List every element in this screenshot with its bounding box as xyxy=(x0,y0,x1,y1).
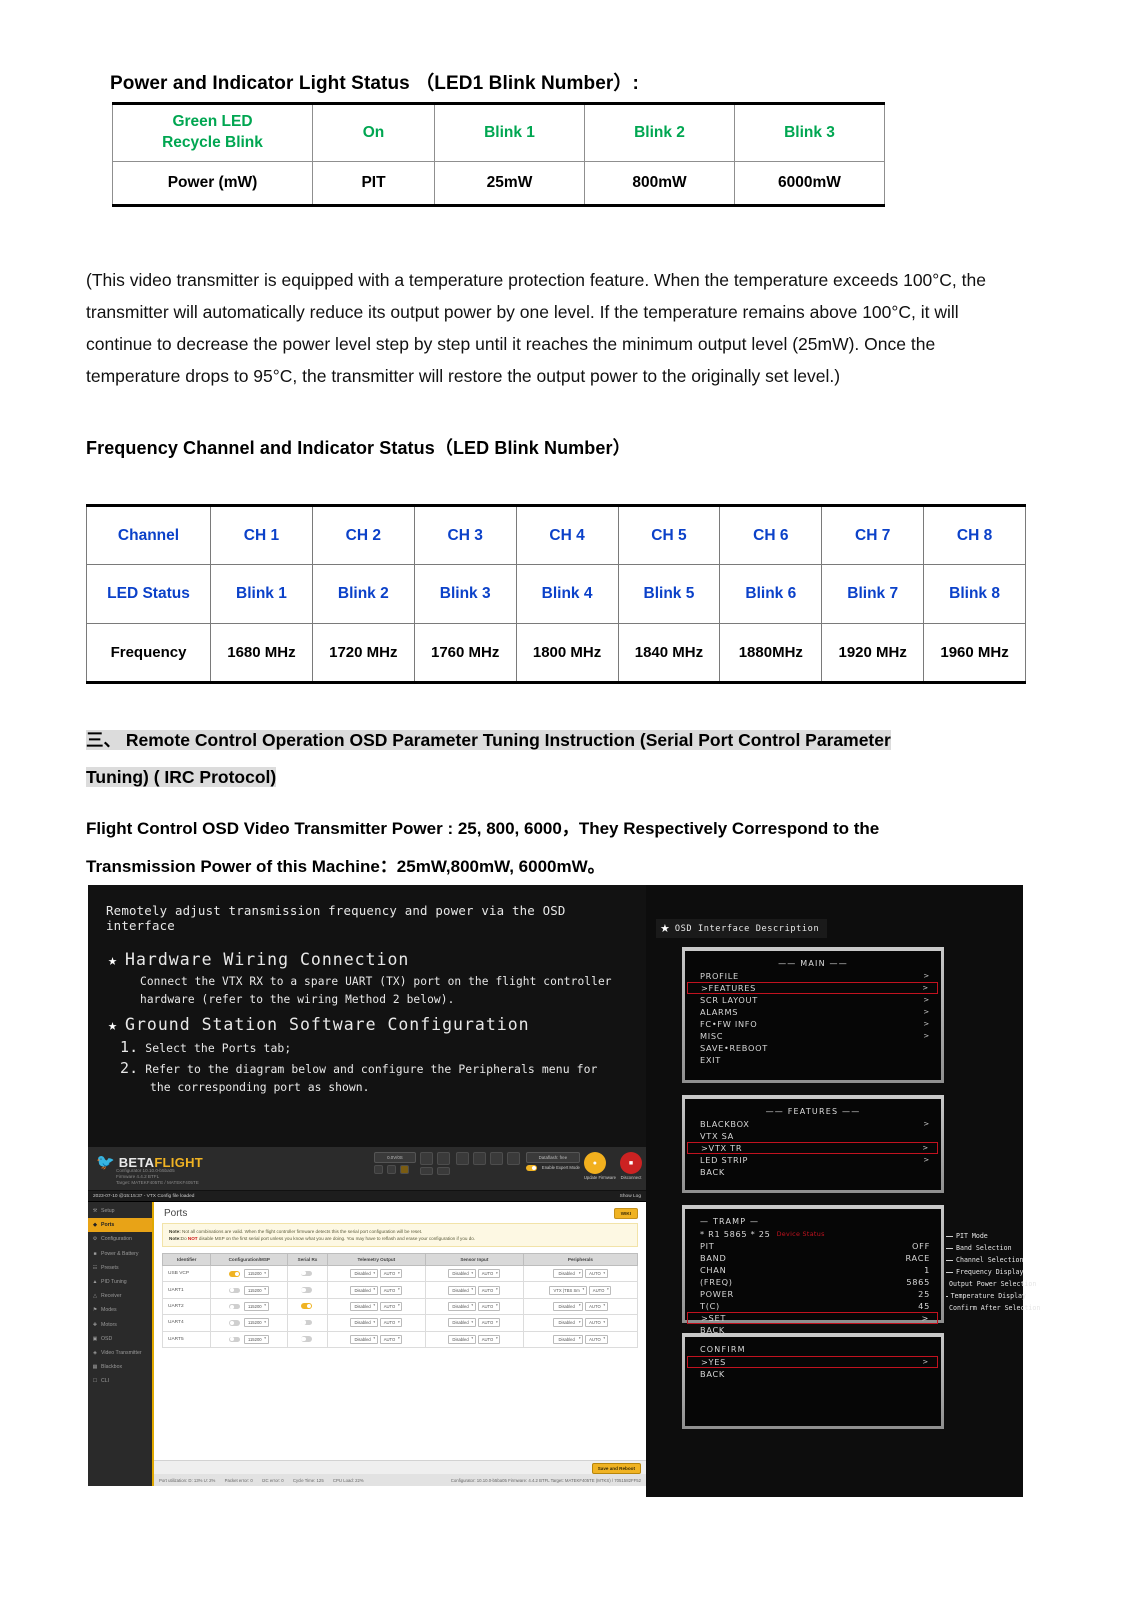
sensor-baud-select[interactable]: AUTO xyxy=(478,1302,501,1311)
star-icon: ★ xyxy=(108,951,118,969)
item-value: 25 xyxy=(918,1288,930,1300)
telemetry-baud-select[interactable]: AUTO xyxy=(380,1286,403,1295)
annotation-label: Frequency Display xyxy=(956,1266,1024,1278)
row-configuration[interactable]: 115200 xyxy=(211,1331,288,1347)
sidebar-label: CLI xyxy=(101,1378,109,1384)
sidebar-item-modes[interactable]: ⚑Modes xyxy=(88,1303,152,1317)
baud-select[interactable]: 115200 xyxy=(244,1269,269,1278)
channel-cell-8: CH 8 xyxy=(924,506,1026,565)
serial-rx-toggle[interactable] xyxy=(301,1320,312,1326)
sidebar-item-setup[interactable]: ⚒Setup xyxy=(88,1204,152,1218)
item-value: RACE xyxy=(905,1252,930,1264)
expert-mode-label: Enable Expert Mode xyxy=(542,1165,580,1170)
section-3-line-1: 三、 Remote Control Operation OSD Paramete… xyxy=(86,730,891,750)
row-serial-rx[interactable] xyxy=(288,1298,328,1314)
chevron-right-icon: > xyxy=(922,1142,929,1154)
betaflight-version-meta: Configurator 10.10.0-b5ba05 Firmware 4.4… xyxy=(116,1168,199,1187)
sidebar-label: PID Tuning xyxy=(101,1279,127,1285)
monitor-icon: ▣ xyxy=(92,1336,98,1342)
item-label: PROFILE xyxy=(700,970,739,982)
annotation-confirm-after-selection: Confirm After Selection xyxy=(946,1302,1026,1314)
port-indicator-group xyxy=(456,1152,522,1165)
sidebar-label: Blackbox xyxy=(101,1364,122,1370)
port-utilization: Port utilization: D: 13% U: 2% xyxy=(159,1478,215,1483)
sidebar-label: Motors xyxy=(101,1322,117,1328)
table-row: UART2 115200 DisabledAUTO DisabledAUTO D… xyxy=(163,1298,638,1314)
table-row: Power (mW) PIT 25mW 800mW 6000mW xyxy=(113,162,885,206)
peripheral-select[interactable]: VTX (TBS Sm xyxy=(549,1286,586,1295)
star-icon: ★ xyxy=(108,1016,118,1034)
ports-table: Identifier Configuration/MSP Serial Rx T… xyxy=(162,1253,638,1348)
osd-power-line-2: Transmission Power of this Machine：25mW,… xyxy=(86,857,605,876)
row-sensor[interactable]: DisabledAUTO xyxy=(425,1282,523,1298)
update-firmware-icon[interactable]: ● xyxy=(584,1152,606,1174)
serial-rx-toggle[interactable] xyxy=(301,1336,312,1342)
row-telemetry[interactable]: DisabledAUTO xyxy=(327,1266,425,1282)
item-label: SCR LAYOUT xyxy=(700,994,758,1006)
state-cell-blink-3: Blink 3 xyxy=(735,104,885,162)
chevron-right-icon: > xyxy=(922,1356,929,1368)
peripheral-baud-select[interactable]: AUTO xyxy=(589,1286,612,1295)
row-configuration[interactable]: 115200 xyxy=(211,1298,288,1314)
hardware-wiring-line-1: Connect the VTX RX to a spare UART (TX) … xyxy=(140,975,612,988)
sidebar-label: Video Transmitter xyxy=(101,1350,142,1356)
gps-sat-icon xyxy=(473,1152,486,1165)
sensor-select[interactable]: Disabled xyxy=(448,1286,475,1295)
item-label: ALARMS xyxy=(700,1006,738,1018)
show-log-link[interactable]: Show Log xyxy=(620,1194,641,1199)
note-2-pre: Do xyxy=(181,1236,188,1241)
power-label-cell: Power (mW) xyxy=(113,162,313,206)
row-configuration[interactable]: 115200 xyxy=(211,1315,288,1331)
sidebar-label: Receiver xyxy=(101,1293,121,1299)
ports-header: Ports WIKI xyxy=(154,1202,646,1223)
green-led-line1: Green LED xyxy=(172,113,252,130)
note-1: Note: Not all combinations are valid. Wh… xyxy=(169,1228,631,1235)
sensor-select[interactable]: Disabled xyxy=(448,1318,475,1327)
peripheral-baud-select[interactable]: AUTO xyxy=(585,1302,608,1311)
save-and-reboot-button[interactable]: Save and Reboot xyxy=(592,1463,641,1474)
led-status-cell-7: Blink 7 xyxy=(822,565,924,624)
step-2-text: Refer to the diagram below and configure… xyxy=(145,1062,597,1076)
osd-tramp-item-freq: (FREQ)5865 xyxy=(694,1276,932,1288)
packet-error: Packet error: 0 xyxy=(225,1478,253,1483)
sonar-icon xyxy=(456,1152,469,1165)
frequency-cell-7: 1920 MHz xyxy=(822,624,924,683)
item-label: CHAN xyxy=(700,1264,726,1276)
row-sensor[interactable]: DisabledAUTO xyxy=(425,1315,523,1331)
row-peripheral[interactable]: DisabledAUTO xyxy=(523,1331,637,1347)
msp-toggle[interactable] xyxy=(229,1337,240,1343)
power-value-6000mw: 6000mW xyxy=(735,162,885,206)
column-serial-rx: Serial Rx xyxy=(288,1254,328,1266)
ports-title: Ports xyxy=(164,1208,187,1219)
row-sensor[interactable]: DisabledAUTO xyxy=(425,1331,523,1347)
sliders-icon: ☷ xyxy=(92,1265,98,1271)
channel-cell-5: CH 5 xyxy=(618,506,720,565)
led-status-cell-5: Blink 5 xyxy=(618,565,720,624)
row-serial-rx[interactable] xyxy=(288,1266,328,1282)
osd-features-item-led-strip[interactable]: LED STRIP> xyxy=(694,1154,932,1166)
osd-main-item-fc-fw-info[interactable]: FC•FW INFO> xyxy=(694,1018,932,1030)
sensor-baud-select[interactable]: AUTO xyxy=(478,1269,501,1278)
item-label: >YES xyxy=(701,1356,726,1368)
sidebar-item-ports[interactable]: ◆Ports xyxy=(88,1218,152,1232)
osd-menu-confirm-screen: CONFIRM >YES> BACK xyxy=(685,1337,941,1426)
telemetry-baud-select[interactable]: AUTO xyxy=(380,1269,403,1278)
annotation-channel-selection: Channel Selection xyxy=(946,1254,1026,1266)
osd-menu-confirm: CONFIRM >YES> BACK xyxy=(682,1333,944,1429)
led-status-cell-1: Blink 1 xyxy=(211,565,313,624)
plug-icon: ◆ xyxy=(92,1222,98,1228)
temperature-protection-note: (This video transmitter is equipped with… xyxy=(86,264,1026,392)
item-label: EXIT xyxy=(700,1054,721,1066)
peripheral-select[interactable]: Disabled xyxy=(553,1269,583,1278)
osd-tramp-item-pit[interactable]: PITOFF xyxy=(694,1240,932,1252)
expert-mode-row[interactable]: Enable Expert Mode xyxy=(526,1165,580,1171)
cpu-load: CPU Load: 22% xyxy=(333,1478,364,1483)
ports-notes: Note: Not all combinations are valid. Wh… xyxy=(162,1223,638,1247)
broadcast-icon: ◈ xyxy=(92,1350,98,1356)
osd-tramp-item-temperature: T(C)45 xyxy=(694,1300,932,1312)
sidebar-item-presets[interactable]: ☷Presets xyxy=(88,1261,152,1275)
osd-main-item-misc[interactable]: MISC> xyxy=(694,1030,932,1042)
row-telemetry[interactable]: DisabledAUTO xyxy=(327,1331,425,1347)
telemetry-select[interactable]: Disabled xyxy=(350,1286,377,1295)
annotation-band-selection: Band Selection xyxy=(946,1242,1026,1254)
annotation-pit-mode: PIT Mode xyxy=(946,1230,1026,1242)
wiki-button[interactable]: WIKI xyxy=(614,1208,638,1219)
osd-menu-tramp: — TRAMP — * R1 5865 * 25 Device Status P… xyxy=(682,1205,944,1323)
telemetry-select[interactable]: Disabled xyxy=(350,1302,377,1311)
row-label-led-status: LED Status xyxy=(87,565,211,624)
ports-panel: Ports WIKI Note: Not all combinations ar… xyxy=(154,1202,646,1486)
row-peripheral[interactable]: VTX (TBS SmAUTO xyxy=(523,1282,637,1298)
led-status-cell-3: Blink 3 xyxy=(414,565,516,624)
osd-instruction-screenshot: Remotely adjust transmission frequency a… xyxy=(88,885,1023,1497)
betaflight-header-controls: 0.0V/0S xyxy=(374,1152,642,1180)
msp-toggle[interactable] xyxy=(229,1320,240,1326)
osd-menu-features: —— FEATURES —— BLACKBOX> VTX SA >VTX TR>… xyxy=(682,1095,944,1193)
peripheral-select[interactable]: Disabled xyxy=(553,1335,583,1344)
sidebar-item-osd[interactable]: ▣OSD xyxy=(88,1332,152,1346)
row-identifier: UART2 xyxy=(163,1298,211,1314)
item-label: BACK xyxy=(700,1166,725,1178)
baud-select[interactable]: 115200 xyxy=(244,1318,269,1327)
sidebar-item-cli[interactable]: ☐CLI xyxy=(88,1374,152,1388)
step-1-number: 1. xyxy=(120,1038,138,1056)
hardware-wiring-text: Connect the VTX RX to a spare UART (TX) … xyxy=(140,973,632,1009)
item-label: SAVE•REBOOT xyxy=(700,1042,768,1054)
row-configuration[interactable]: 115200 xyxy=(211,1266,288,1282)
frequency-channel-title: Frequency Channel and Indicator Status（L… xyxy=(86,434,631,460)
led-status-cell-8: Blink 8 xyxy=(924,565,1026,624)
box-icon: ▦ xyxy=(92,1364,98,1370)
note-1-text: Not all combinations are valid. When the… xyxy=(182,1229,422,1234)
table-row: UART5 115200 DisabledAUTO DisabledAUTO D… xyxy=(163,1331,638,1347)
osd-main-item-profile[interactable]: PROFILE> xyxy=(694,970,932,982)
sensor-indicator-group xyxy=(420,1152,452,1175)
telemetry-baud-select[interactable]: AUTO xyxy=(380,1318,403,1327)
row-serial-rx[interactable] xyxy=(288,1315,328,1331)
serial-rx-toggle[interactable] xyxy=(301,1303,312,1309)
led-status-cell-4: Blink 4 xyxy=(516,565,618,624)
msp-toggle[interactable] xyxy=(229,1288,240,1294)
channel-cell-7: CH 7 xyxy=(822,506,924,565)
leader-dash xyxy=(946,1236,953,1237)
ports-footer-bar: Save and Reboot xyxy=(154,1460,646,1474)
row-peripheral[interactable]: DisabledAUTO xyxy=(523,1298,637,1314)
osd-power-description: Flight Control OSD Video Transmitter Pow… xyxy=(86,810,1046,886)
baud-select[interactable]: 115200 xyxy=(244,1286,269,1295)
osd-tramp-item-chan[interactable]: CHAN1 xyxy=(694,1264,932,1276)
sidebar-label: Presets xyxy=(101,1265,119,1271)
table-row: UART1 115200 DisabledAUTO DisabledAUTO V… xyxy=(163,1282,638,1298)
telemetry-baud-select[interactable]: AUTO xyxy=(380,1302,403,1311)
row-sensor[interactable]: DisabledAUTO xyxy=(425,1298,523,1314)
osd-main-item-exit[interactable]: EXIT xyxy=(694,1054,932,1066)
note-2-strong: NOT xyxy=(188,1236,198,1241)
column-configuration: Configuration/MSP xyxy=(211,1254,288,1266)
frequency-cell-2: 1720 MHz xyxy=(312,624,414,683)
sensor-select[interactable]: Disabled xyxy=(448,1335,475,1344)
sidebar-label: OSD xyxy=(101,1336,112,1342)
item-label: >SET xyxy=(701,1312,726,1324)
annotation-label: Output Power Selection xyxy=(949,1278,1036,1290)
table-row: Channel CH 1 CH 2 CH 3 CH 4 CH 5 CH 6 CH… xyxy=(87,506,1026,565)
item-value: 5865 xyxy=(906,1276,930,1288)
update-firmware-group[interactable]: ● Update Firmware xyxy=(584,1152,616,1180)
item-label: MISC xyxy=(700,1030,723,1042)
section-3-heading: 三、 Remote Control Operation OSD Paramete… xyxy=(86,722,1036,796)
annotation-label: Band Selection xyxy=(956,1242,1012,1254)
power-value-pit: PIT xyxy=(313,162,435,206)
disconnect-group[interactable]: ■ Disconnect xyxy=(620,1152,642,1180)
betaflight-body: ⚒Setup ◆Ports ⚙Configuration ■Power & Ba… xyxy=(88,1202,646,1486)
osd-main-item-alarms[interactable]: ALARMS> xyxy=(694,1006,932,1018)
status-bar-right: Configurator: 10.10.0-b5ba05 Firmware: 4… xyxy=(451,1478,641,1483)
item-label: >FEATURES xyxy=(701,982,756,994)
step-2-number: 2. xyxy=(120,1059,138,1077)
sidebar-item-pid-tuning[interactable]: ▲PID Tuning xyxy=(88,1275,152,1289)
frequency-cell-4: 1800 MHz xyxy=(516,624,618,683)
row-telemetry[interactable]: DisabledAUTO xyxy=(327,1315,425,1331)
gps-icon xyxy=(387,1165,396,1174)
betaflight-status-line: 2023-07-10 @15:15:37 - VTX Config file l… xyxy=(88,1191,646,1202)
mag-icon xyxy=(420,1167,433,1175)
sidebar-item-configuration[interactable]: ⚙Configuration xyxy=(88,1232,152,1246)
item-label: BAND xyxy=(700,1252,726,1264)
osd-features-item-vtx-tr[interactable]: >VTX TR> xyxy=(687,1142,938,1154)
row-serial-rx[interactable] xyxy=(288,1331,328,1347)
cycle-time: Cycle Time: 125 xyxy=(293,1478,324,1483)
sidebar-item-video-transmitter[interactable]: ◈Video Transmitter xyxy=(88,1346,152,1360)
table-row: USB VCP 115200 DisabledAUTO DisabledAUTO… xyxy=(163,1266,638,1282)
osd-tramp-item-power[interactable]: POWER25 xyxy=(694,1288,932,1300)
telemetry-select[interactable]: Disabled xyxy=(350,1318,377,1327)
osd-tramp-item-set[interactable]: >SET> xyxy=(687,1312,938,1324)
battery-group: 0.0V/0S xyxy=(374,1152,416,1174)
sensor-baud-select[interactable]: AUTO xyxy=(478,1286,501,1295)
item-label: FC•FW INFO xyxy=(700,1018,757,1030)
osd-power-line-1: Flight Control OSD Video Transmitter Pow… xyxy=(86,819,879,838)
column-sensor-input: Sensor Input xyxy=(425,1254,523,1266)
baro-icon xyxy=(437,1167,450,1175)
sensor-baud-select[interactable]: AUTO xyxy=(478,1318,501,1327)
osd-features-item-vtx-sa[interactable]: VTX SA xyxy=(694,1130,932,1142)
state-cell-on: On xyxy=(313,104,435,162)
star-icon: ★ xyxy=(660,922,670,935)
disconnect-label: Disconnect xyxy=(620,1175,642,1180)
power-value-800mw: 800mW xyxy=(585,162,735,206)
note-2: Note:Do NOT disable MSP on the first ser… xyxy=(169,1235,631,1242)
leader-dash xyxy=(946,1260,953,1261)
chevron-right-icon: > xyxy=(923,1154,930,1166)
column-identifier: Identifier xyxy=(163,1254,211,1266)
sidebar-label: Power & Battery xyxy=(101,1251,138,1257)
sidebar-label: Setup xyxy=(101,1208,115,1214)
gear-icon: ⚙ xyxy=(92,1236,98,1242)
note-2-label: Note: xyxy=(169,1236,181,1241)
item-label: PIT xyxy=(700,1240,714,1252)
battery-pill[interactable]: 0.0V/0S xyxy=(374,1152,416,1163)
osd-menu-main-screen: —— MAIN —— PROFILE> >FEATURES> SCR LAYOU… xyxy=(685,951,941,1080)
antenna-icon: △ xyxy=(92,1293,98,1299)
expert-mode-toggle[interactable] xyxy=(526,1165,537,1171)
telemetry-baud-select[interactable]: AUTO xyxy=(380,1335,403,1344)
osd-tramp-item-band[interactable]: BANDRACE xyxy=(694,1252,932,1264)
annotation-label: Confirm After Selection xyxy=(949,1302,1040,1314)
peripheral-select[interactable]: Disabled xyxy=(553,1302,583,1311)
section-3-line-2: Tuning) ( IRC Protocol) xyxy=(86,767,276,787)
step-2-continuation: the corresponding port as shown. xyxy=(150,1080,632,1094)
row-label-channel: Channel xyxy=(87,506,211,565)
item-label: POWER xyxy=(700,1288,734,1300)
sensor-row-top xyxy=(420,1152,452,1165)
row-peripheral[interactable]: DisabledAUTO xyxy=(523,1266,637,1282)
osd-features-item-back[interactable]: BACK xyxy=(694,1166,932,1178)
note-1-label: Note: xyxy=(169,1229,181,1234)
gyro-icon xyxy=(420,1152,433,1165)
row-configuration[interactable]: 115200 xyxy=(211,1282,288,1298)
document-page: Power and Indicator Light Status （LED1 B… xyxy=(0,0,1131,1600)
peripheral-baud-select[interactable]: AUTO xyxy=(585,1269,608,1278)
betaflight-status-bar: Port utilization: D: 13% U: 2% Packet er… xyxy=(154,1474,646,1486)
annotation-temperature-display: Temperature Display xyxy=(946,1290,1026,1302)
disconnect-icon[interactable]: ■ xyxy=(620,1152,642,1174)
serial-rx-toggle[interactable] xyxy=(301,1287,312,1293)
telemetry-select[interactable]: Disabled xyxy=(350,1335,377,1344)
osd-main-item-features[interactable]: >FEATURES> xyxy=(687,982,938,994)
sensor-select[interactable]: Disabled xyxy=(448,1302,475,1311)
osd-features-item-blackbox[interactable]: BLACKBOX> xyxy=(694,1118,932,1130)
chevron-right-icon: > xyxy=(923,1030,930,1042)
row-telemetry[interactable]: DisabledAUTO xyxy=(327,1282,425,1298)
table-row: Green LED Recycle Blink On Blink 1 Blink… xyxy=(113,104,885,162)
annotation-label: Channel Selection xyxy=(956,1254,1024,1266)
osd-menu-tramp-header: — TRAMP — xyxy=(694,1215,932,1228)
baud-select[interactable]: 115200 xyxy=(244,1302,269,1311)
baud-select[interactable]: 115200 xyxy=(244,1335,269,1344)
sensor-select[interactable]: Disabled xyxy=(448,1269,475,1278)
state-cell-blink-2: Blink 2 xyxy=(585,104,735,162)
ground-station-label: Ground Station Software Configuration xyxy=(125,1015,530,1034)
device-status-value: * R1 5865 * 25 xyxy=(700,1228,771,1240)
update-firmware-label: Update Firmware xyxy=(584,1175,616,1180)
battery-icon: ■ xyxy=(92,1251,98,1257)
item-value: 45 xyxy=(918,1300,930,1312)
sensor-baud-select[interactable]: AUTO xyxy=(478,1335,501,1344)
osd-description-column: ★ OSD Interface Description —— MAIN —— P… xyxy=(646,885,1023,1497)
green-led-line2: Recycle Blink xyxy=(162,134,263,151)
telemetry-select[interactable]: Disabled xyxy=(350,1269,377,1278)
item-value: OFF xyxy=(912,1240,930,1252)
osd-main-item-save-reboot[interactable]: SAVE•REBOOT xyxy=(694,1042,932,1054)
i2c-error: I2C error: 0 xyxy=(262,1478,284,1483)
item-label: LED STRIP xyxy=(700,1154,748,1166)
serial-rx-toggle[interactable] xyxy=(301,1271,312,1277)
row-serial-rx[interactable] xyxy=(288,1282,328,1298)
instruction-lead: Remotely adjust transmission frequency a… xyxy=(106,903,632,933)
led-status-cell-2: Blink 2 xyxy=(312,565,414,624)
row-identifier: UART5 xyxy=(163,1331,211,1347)
row-telemetry[interactable]: DisabledAUTO xyxy=(327,1298,425,1314)
sidebar-item-blackbox[interactable]: ▦Blackbox xyxy=(88,1360,152,1374)
column-peripherals: Peripherals xyxy=(523,1254,637,1266)
frequency-cell-5: 1840 MHz xyxy=(618,624,720,683)
frequency-cell-8: 1960 MHz xyxy=(924,624,1026,683)
msp-toggle[interactable] xyxy=(229,1271,240,1277)
sidebar-item-motors[interactable]: ✚Motors xyxy=(88,1318,152,1332)
propeller-icon: ✚ xyxy=(92,1322,98,1328)
sidebar-item-power-battery[interactable]: ■Power & Battery xyxy=(88,1247,152,1261)
status-message: 2023-07-10 @15:15:37 - VTX Config file l… xyxy=(93,1194,194,1199)
osd-menu-main-header: —— MAIN —— xyxy=(694,957,932,970)
osd-menu-tramp-screen: — TRAMP — * R1 5865 * 25 Device Status P… xyxy=(685,1209,941,1320)
hardware-wiring-heading: ★ Hardware Wiring Connection xyxy=(108,950,632,969)
chevron-right-icon: > xyxy=(923,970,930,982)
annotation-label: PIT Mode xyxy=(956,1230,988,1242)
osd-badge-label: OSD Interface Description xyxy=(675,924,819,934)
table-row: UART4 115200 DisabledAUTO DisabledAUTO D… xyxy=(163,1315,638,1331)
step-2: 2. Refer to the diagram below and config… xyxy=(120,1059,632,1077)
ports-table-header: Identifier Configuration/MSP Serial Rx T… xyxy=(163,1254,638,1266)
hardware-wiring-line-2: hardware (refer to the wiring Method 2 b… xyxy=(140,993,454,1006)
osd-confirm-item-yes[interactable]: >YES> xyxy=(687,1356,938,1368)
chevron-right-icon: > xyxy=(923,1118,930,1130)
osd-confirm-item-back[interactable]: BACK xyxy=(694,1368,932,1380)
item-label: BACK xyxy=(700,1368,725,1380)
arming-icon xyxy=(400,1165,409,1174)
peripheral-baud-select[interactable]: AUTO xyxy=(585,1318,608,1327)
row-peripheral[interactable]: DisabledAUTO xyxy=(523,1315,637,1331)
row-identifier: UART4 xyxy=(163,1315,211,1331)
sidebar-item-receiver[interactable]: △Receiver xyxy=(88,1289,152,1303)
peripheral-select[interactable]: Disabled xyxy=(553,1318,583,1327)
status-bar-left: Port utilization: D: 13% U: 2% Packet er… xyxy=(159,1478,372,1483)
dataflash-group: Dataflash: free Enable Expert Mode xyxy=(526,1152,580,1171)
led-status-cell-6: Blink 6 xyxy=(720,565,822,624)
flag-icon: ⚑ xyxy=(92,1307,98,1313)
sidebar-label: Configuration xyxy=(101,1236,132,1242)
msp-toggle[interactable] xyxy=(229,1304,240,1310)
column-telemetry: Telemetry Output xyxy=(327,1254,425,1266)
status-icons xyxy=(374,1165,416,1174)
osd-main-item-scr-layout[interactable]: SCR LAYOUT> xyxy=(694,994,932,1006)
row-sensor[interactable]: DisabledAUTO xyxy=(425,1266,523,1282)
betaflight-configurator: 🐦 BETAFLIGHT Configurator 10.10.0-b5ba05… xyxy=(88,1147,646,1497)
peripheral-baud-select[interactable]: AUTO xyxy=(585,1335,608,1344)
